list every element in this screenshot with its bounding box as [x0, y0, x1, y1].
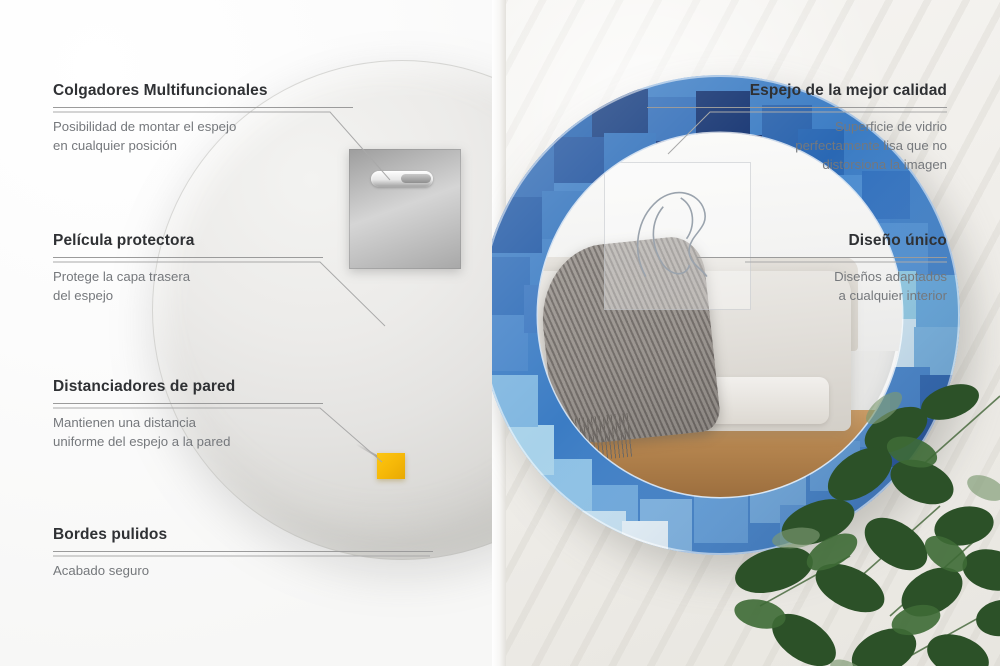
- callout-title: Distanciadores de pared: [53, 378, 323, 396]
- callout-title: Diseño único: [697, 232, 947, 250]
- callout-title: Película protectora: [53, 232, 323, 250]
- callout-rule: [647, 107, 947, 108]
- callout-desc: Protege la capa traseradel espejo: [53, 267, 323, 305]
- callout-title: Bordes pulidos: [53, 526, 433, 544]
- green-plant-foliage: [700, 356, 1000, 666]
- callout-rule: [53, 107, 353, 108]
- callout-desc: Diseños adaptadosa cualquier interior: [697, 267, 947, 305]
- callout-distanciadores: Distanciadores de pared Mantienen una di…: [53, 378, 323, 451]
- callout-colgadores: Colgadores Multifuncionales Posibilidad …: [53, 82, 353, 155]
- callout-diseno: Diseño único Diseños adaptadosa cualquie…: [697, 232, 947, 305]
- callout-rule: [53, 257, 323, 258]
- callout-desc: Superficie de vidrioperfectamente lisa q…: [647, 117, 947, 174]
- callout-pelicula: Película protectora Protege la capa tras…: [53, 232, 323, 305]
- callout-calidad: Espejo de la mejor calidad Superficie de…: [647, 82, 947, 174]
- callout-title: Espejo de la mejor calidad: [647, 82, 947, 100]
- callout-desc: Posibilidad de montar el espejoen cualqu…: [53, 117, 353, 155]
- callout-rule: [53, 403, 323, 404]
- infographic-stage: Colgadores Multifuncionales Posibilidad …: [0, 0, 1000, 666]
- callout-title: Colgadores Multifuncionales: [53, 82, 353, 100]
- reflected-throw-fringe: [543, 412, 634, 465]
- callout-bordes: Bordes pulidos Acabado seguro: [53, 526, 433, 580]
- callout-rule: [53, 551, 433, 552]
- hanger-mounting-plate: [349, 149, 461, 269]
- callout-desc: Mantienen una distanciauniforme del espe…: [53, 413, 323, 451]
- wall-spacer-block: [377, 453, 405, 479]
- callout-rule: [697, 257, 947, 258]
- callout-desc: Acabado seguro: [53, 561, 433, 580]
- keyhole-hanger-slot: [371, 171, 433, 187]
